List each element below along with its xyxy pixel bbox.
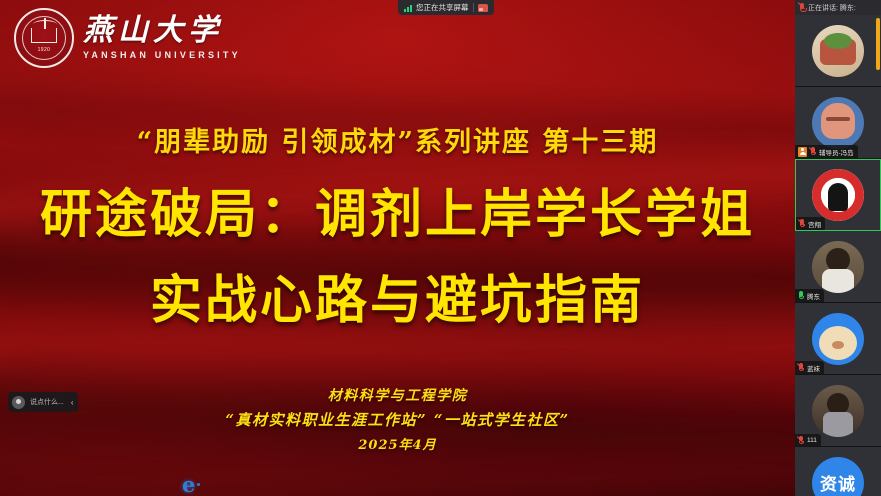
- collapse-chevron-icon[interactable]: ‹: [69, 398, 74, 407]
- participant-name: 蓝袜: [807, 363, 820, 373]
- active-speaker-header: 正在讲话: 腾东:: [795, 0, 881, 15]
- internet-explorer-icon[interactable]: e: [182, 474, 200, 495]
- screen-share-icon[interactable]: [478, 4, 488, 12]
- participant-tile[interactable]: 腾东: [795, 231, 881, 303]
- participant-name: 111: [807, 437, 817, 444]
- participant-nametag: 辅导员-冯岛: [795, 145, 858, 158]
- participant-name: 辅导员-冯岛: [819, 147, 854, 157]
- slide-title-line-2: 实战心路与避坑指南: [0, 258, 795, 333]
- participant-name: 宫翔: [808, 219, 821, 229]
- active-speaker-label: 正在讲话: 腾东:: [808, 3, 856, 13]
- participant-tile[interactable]: [795, 15, 881, 87]
- university-name-cn: 燕山大学: [83, 16, 241, 46]
- participant-nametag: 111: [795, 434, 821, 446]
- signal-bars-icon: [404, 4, 412, 12]
- university-seal-icon: 1920: [14, 8, 74, 68]
- university-logo: 1920 燕山大学 YANSHAN UNIVERSITY: [14, 8, 241, 68]
- avatar-initials: 资诚: [812, 457, 864, 496]
- avatar-hamster: [812, 313, 864, 365]
- mic-muted-icon: [798, 436, 804, 445]
- share-status-text: 您正在共享屏幕: [416, 2, 469, 13]
- chat-input-pill[interactable]: 说点什么... ‹: [8, 392, 78, 412]
- slide-title-line-1: 研途破局：调剂上岸学长学姐: [0, 172, 795, 247]
- slide-footer-date: 2025年4月: [0, 434, 795, 453]
- lecture-series-line: “朋辈助励 引领成材”系列讲座 第十三期: [0, 120, 795, 159]
- avatar-food-photo: [812, 25, 864, 77]
- participant-nametag: 腾东: [795, 289, 824, 302]
- mic-muted-icon: [799, 3, 805, 12]
- participant-tile[interactable]: 蓝袜: [795, 303, 881, 375]
- browser-running-dot: [197, 483, 200, 486]
- participant-tiles: 辅导员-冯岛宫翔腾东蓝袜111资诚于润泽材料物理一班尹资诚: [795, 15, 881, 496]
- banner-divider: [473, 3, 474, 12]
- participant-tile[interactable]: 111: [795, 375, 881, 447]
- rail-scrollbar[interactable]: [876, 18, 880, 70]
- university-name-block: 燕山大学 YANSHAN UNIVERSITY: [83, 16, 241, 60]
- participant-tile[interactable]: 宫翔: [795, 159, 881, 231]
- university-name-en: YANSHAN UNIVERSITY: [83, 51, 241, 60]
- participant-rail[interactable]: 正在讲话: 腾东: 辅导员-冯岛宫翔腾东蓝袜111资诚于润泽材料物理一班尹资诚: [795, 0, 881, 496]
- mic-muted-icon: [810, 147, 816, 156]
- avatar-child: [812, 385, 864, 437]
- screen-root: 1920 燕山大学 YANSHAN UNIVERSITY “朋辈助励 引领成材”…: [0, 0, 881, 496]
- avatar-counselor: [812, 97, 864, 149]
- screen-share-banner[interactable]: 您正在共享屏幕: [398, 0, 494, 15]
- chat-input-placeholder[interactable]: 说点什么...: [30, 397, 64, 407]
- participant-nametag: 宫翔: [796, 217, 825, 230]
- browser-e-glyph: e: [182, 474, 195, 495]
- seal-year: 1920: [16, 47, 72, 53]
- participant-tile[interactable]: 辅导员-冯岛: [795, 87, 881, 159]
- seal-book-emblem: [31, 28, 57, 43]
- mic-muted-icon: [798, 363, 804, 372]
- user-circle-icon: [12, 396, 25, 409]
- avatar-cat-silhouette: [812, 169, 864, 221]
- mic-muted-icon: [799, 219, 805, 228]
- avatar-speaker: [812, 241, 864, 293]
- host-badge-icon: [798, 147, 807, 157]
- slide-footer-organizations: “真材实料职业生涯工作站” “一站式学生社区”: [0, 409, 795, 430]
- shared-screen-slide: 1920 燕山大学 YANSHAN UNIVERSITY “朋辈助励 引领成材”…: [0, 0, 795, 496]
- participant-tile[interactable]: 资诚于润泽: [795, 447, 881, 496]
- mic-active-icon: [798, 291, 804, 300]
- slide-footer-department: 材料科学与工程学院: [0, 385, 795, 405]
- participant-name: 腾东: [807, 291, 820, 301]
- participant-nametag: 蓝袜: [795, 361, 824, 374]
